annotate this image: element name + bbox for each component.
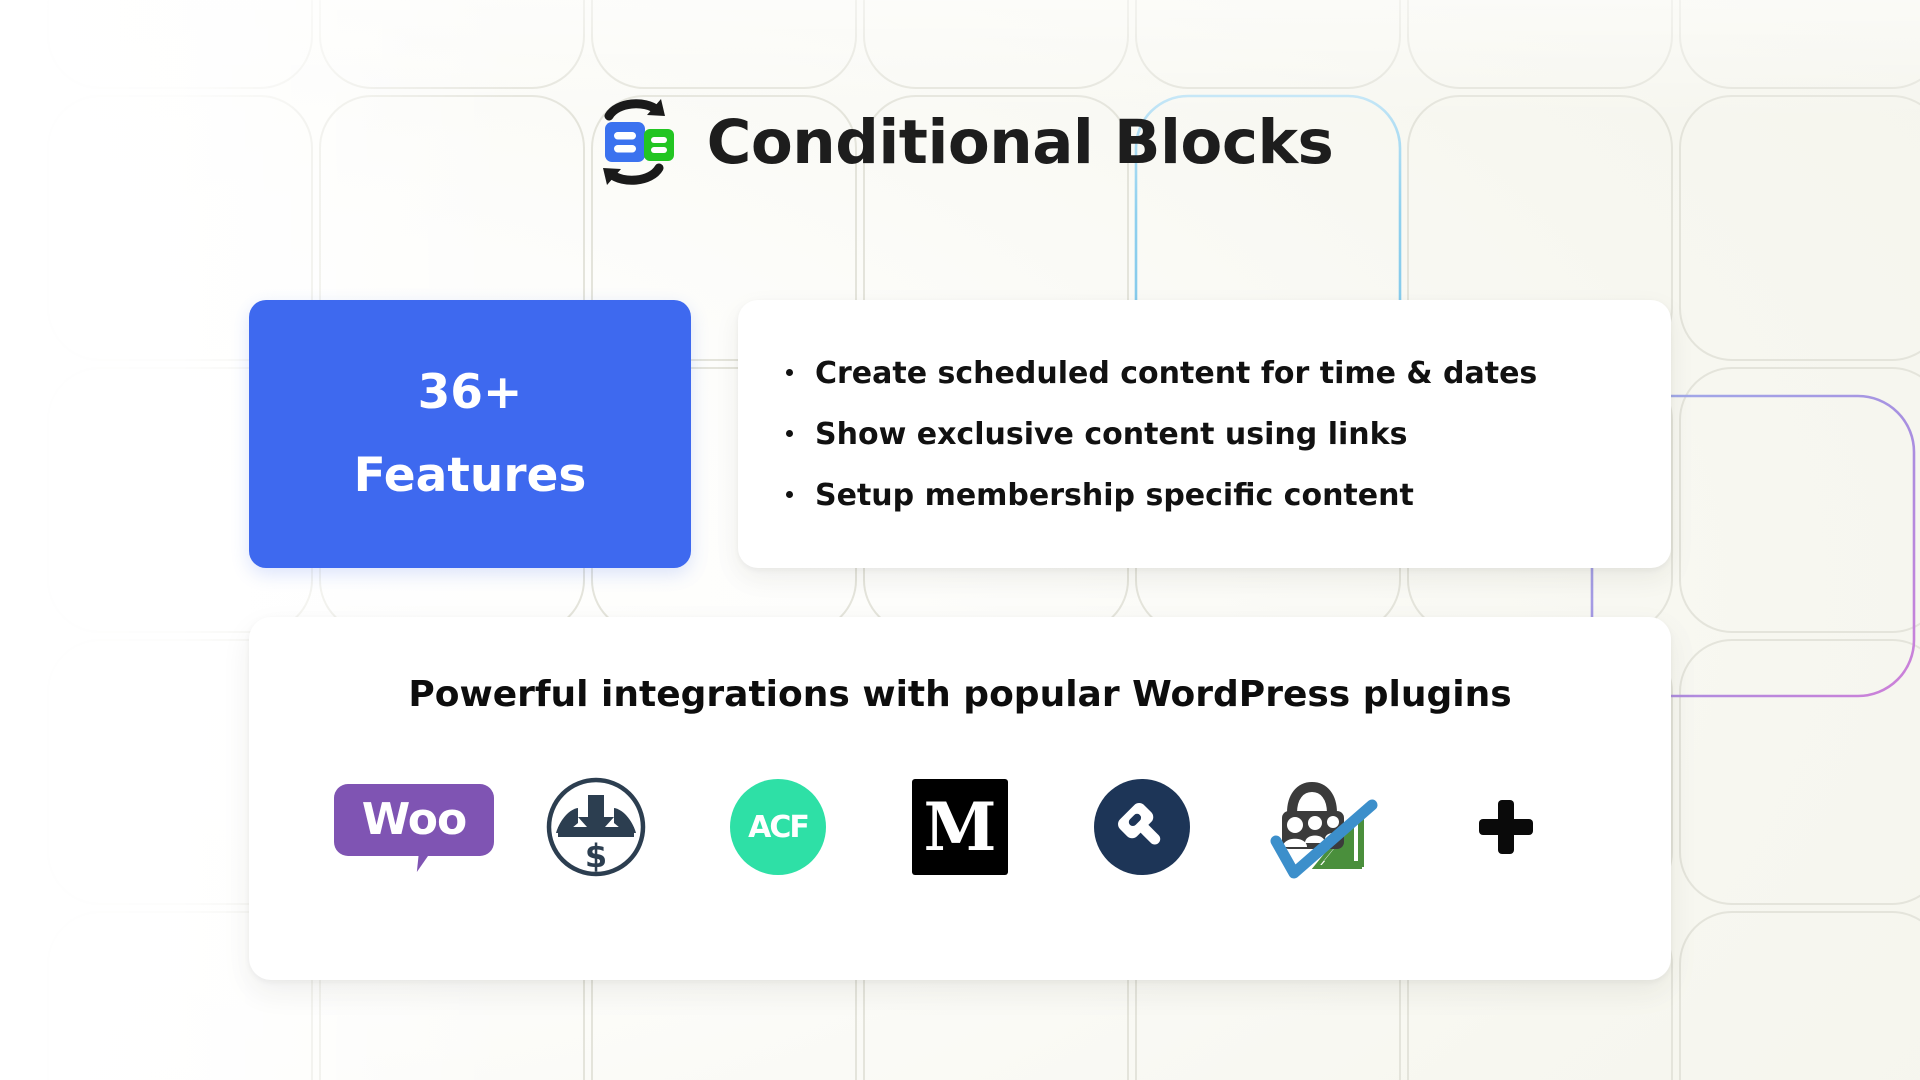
conditional-blocks-logo-icon xyxy=(587,96,681,188)
woocommerce-bubble-tail xyxy=(417,850,445,872)
members-membership-logo-icon xyxy=(1268,775,1380,879)
fluent-forms-logo-icon xyxy=(1094,779,1190,875)
easy-digital-downloads-logo-icon: $ xyxy=(544,775,648,879)
features-count-label: Features xyxy=(354,452,587,499)
bullet-dot-icon xyxy=(786,369,793,376)
integration-logo-members xyxy=(1262,771,1386,883)
list-item: Setup membership specific content xyxy=(786,478,1671,513)
integration-logo-medium: M xyxy=(898,771,1022,883)
advanced-custom-fields-logo-icon: ACF xyxy=(730,779,826,875)
medium-logo-icon: M xyxy=(912,779,1008,875)
medium-logo-text: M xyxy=(923,794,996,860)
page-header: Conditional Blocks xyxy=(0,96,1920,188)
bullet-dot-icon xyxy=(786,491,793,498)
integration-logo-woocommerce: Woo xyxy=(352,771,476,883)
page-canvas: Conditional Blocks 36+ Features Create s… xyxy=(0,0,1920,1080)
bullet-text: Show exclusive content using links xyxy=(815,417,1407,452)
integrations-heading: Powerful integrations with popular WordP… xyxy=(408,674,1511,715)
integration-logo-easy-digital-downloads: $ xyxy=(534,771,658,883)
woocommerce-logo-text: Woo xyxy=(362,798,466,842)
integration-logo-row: Woo xyxy=(249,771,1671,883)
svg-text:$: $ xyxy=(585,837,607,875)
page-title: Conditional Blocks xyxy=(707,107,1334,178)
woocommerce-logo-icon: Woo xyxy=(334,784,494,856)
bullet-text: Create scheduled content for time & date… xyxy=(815,356,1537,391)
bullet-dot-icon xyxy=(786,430,793,437)
feature-bullets-card: Create scheduled content for time & date… xyxy=(738,300,1671,568)
integration-logo-advanced-custom-fields: ACF xyxy=(716,771,840,883)
integration-logo-fluent-forms xyxy=(1080,771,1204,883)
more-plugins-plus-icon[interactable] xyxy=(1473,794,1539,860)
integration-logo-more[interactable] xyxy=(1444,771,1568,883)
acf-logo-text: ACF xyxy=(748,810,808,845)
features-count-value: 36+ xyxy=(418,369,523,416)
list-item: Show exclusive content using links xyxy=(786,417,1671,452)
bullet-text: Setup membership specific content xyxy=(815,478,1414,513)
features-count-card: 36+ Features xyxy=(249,300,691,568)
integrations-card: Powerful integrations with popular WordP… xyxy=(249,617,1671,980)
list-item: Create scheduled content for time & date… xyxy=(786,356,1671,391)
